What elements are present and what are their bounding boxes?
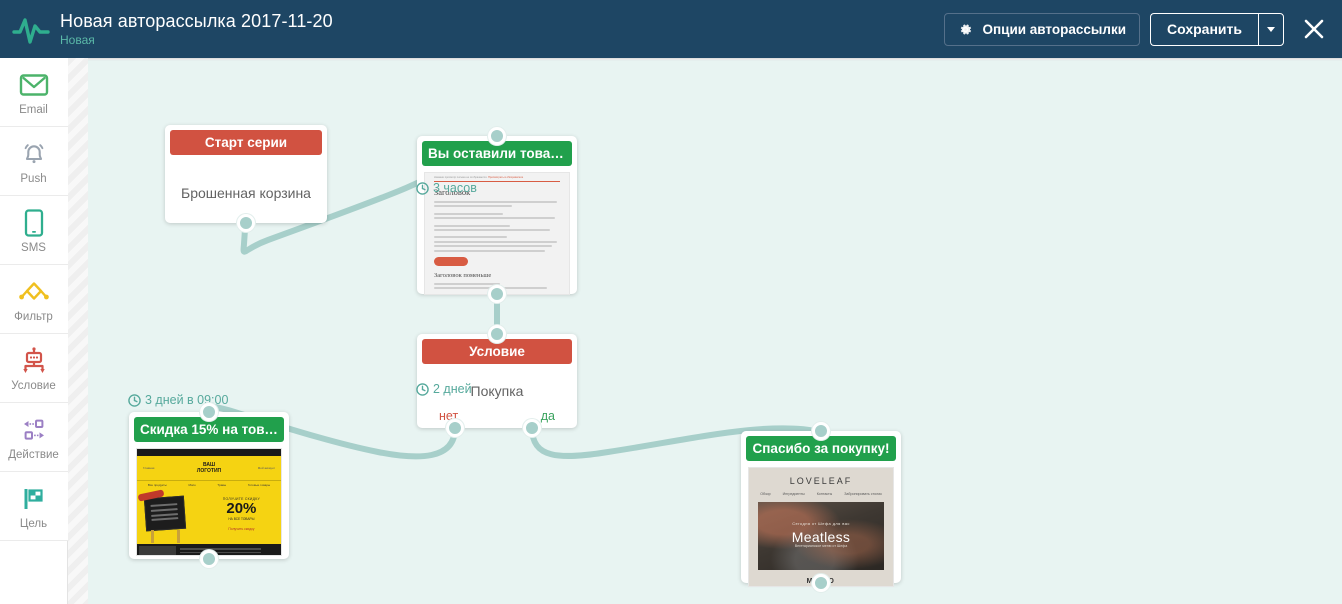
preview-hero-image: Сегодня от Шефа для вас Meatless Вегетар… bbox=[758, 502, 884, 570]
preview-nav-item: Забронировать столик bbox=[844, 492, 882, 496]
preview-nav-item: Контакты bbox=[817, 492, 833, 496]
condition-in-port[interactable] bbox=[488, 325, 506, 343]
canvas-top-shadow bbox=[88, 58, 1342, 61]
condition-node[interactable]: Условие Покупка нет да bbox=[417, 334, 577, 428]
delay-label-2-days: 2 дней bbox=[416, 382, 472, 396]
email-cart-in-port[interactable] bbox=[488, 127, 506, 145]
sidebar-item-condition[interactable]: Условие bbox=[0, 334, 68, 403]
save-button[interactable]: Сохранить bbox=[1150, 13, 1258, 46]
delay-label-text: 3 часов bbox=[433, 181, 477, 195]
email-discount-preview: Главная ВАШ ЛОГОТИП Мой аккаунт Все прод… bbox=[136, 448, 282, 556]
close-icon bbox=[1302, 17, 1326, 41]
start-node-body: Брошенная корзина bbox=[165, 155, 327, 201]
sidebar-item-label: Email bbox=[19, 104, 48, 116]
preview-hero-sub: НА ВСЕ ТОВАРЫ bbox=[202, 517, 281, 521]
preview-nav-item: Готовые товары bbox=[248, 483, 270, 487]
autocampaign-options-label: Опции авторассылки bbox=[982, 22, 1126, 37]
clock-icon bbox=[416, 182, 429, 195]
delay-label-3-hours: 3 часов bbox=[416, 181, 477, 195]
preview-hero: ПОЛУЧИТЕ СКИДКУ 20% НА ВСЕ ТОВАРЫ Получи… bbox=[137, 489, 281, 544]
condition-out-port-yes[interactable] bbox=[523, 419, 541, 437]
push-bell-icon bbox=[20, 138, 48, 170]
preview-logo-bar: Главная ВАШ ЛОГОТИП Мой аккаунт bbox=[137, 456, 281, 480]
preview-nav: Обзор Ингредиенты Контакты Забронировать… bbox=[749, 492, 893, 496]
sidebar-item-push[interactable]: Push bbox=[0, 127, 68, 196]
preview-nav-item: Ингредиенты bbox=[783, 492, 805, 496]
preview-hero-sub: Вегетарианское меню от Шефа bbox=[758, 544, 884, 548]
sidebar-item-email[interactable]: Email bbox=[0, 58, 68, 127]
sidebar-item-action[interactable]: Действие bbox=[0, 403, 68, 472]
sidebar-item-label: SMS bbox=[21, 242, 46, 254]
delay-label-text: 2 дней bbox=[433, 382, 472, 396]
pulse-logo-icon bbox=[8, 12, 54, 46]
action-exchange-icon bbox=[19, 414, 49, 446]
filter-diamond-icon bbox=[17, 276, 51, 308]
gear-icon bbox=[958, 22, 973, 37]
app-header: Новая авторассылка 2017-11-20 Новая Опци… bbox=[0, 0, 1342, 58]
preview-brand-logo: LOVELEAF bbox=[749, 468, 893, 486]
preview-chalkboard-illustration bbox=[137, 489, 202, 544]
preview-top-link: Просмотреть в обозревателе bbox=[488, 176, 523, 179]
sidebar-item-goal[interactable]: Цель bbox=[0, 472, 68, 541]
preview-nav-item: Обзор bbox=[760, 492, 770, 496]
start-node-header: Старт серии bbox=[170, 130, 322, 155]
workflow-canvas[interactable]: 3 часов 2 дней 3 дней в 09:00 Старт сери… bbox=[88, 60, 1342, 604]
email-thanks-node[interactable]: Спасибо за покупку! LOVELEAF Обзор Ингре… bbox=[741, 431, 901, 583]
preview-heading-2: Заголовок поменьше bbox=[434, 272, 560, 279]
sidebar-item-label: Действие bbox=[8, 449, 59, 461]
sidebar-item-label: Цель bbox=[20, 518, 47, 530]
sidebar-item-filter[interactable]: Фильтр bbox=[0, 265, 68, 334]
email-thanks-in-port[interactable] bbox=[812, 422, 830, 440]
preview-hero-percent: 20% bbox=[202, 501, 281, 517]
preview-hero-title: Meatless bbox=[758, 529, 884, 545]
delay-label-text: 3 дней в 09:00 bbox=[145, 393, 228, 407]
preview-nav-item: Все продукты bbox=[148, 483, 167, 487]
status-badge: Новая bbox=[60, 33, 333, 48]
start-node-out-port[interactable] bbox=[237, 214, 255, 232]
preview-logo-left: Главная bbox=[143, 466, 154, 470]
preview-nav-item: Мясо bbox=[188, 483, 195, 487]
email-cart-node[interactable]: Вы оставили товар... Никакие просмотр пи… bbox=[417, 136, 577, 294]
email-cart-out-port[interactable] bbox=[488, 285, 506, 303]
condition-branch-labels: нет да bbox=[417, 399, 577, 423]
preview-logo-line2: ЛОГОТИП bbox=[197, 468, 221, 474]
sms-phone-icon bbox=[23, 207, 45, 239]
save-dropdown-toggle[interactable] bbox=[1258, 13, 1284, 46]
chevron-down-icon bbox=[1267, 27, 1275, 32]
close-button[interactable] bbox=[1300, 15, 1328, 43]
preview-cta-button bbox=[434, 257, 468, 266]
preview-hero-kicker: Сегодня от Шефа для вас bbox=[758, 521, 884, 526]
clock-icon bbox=[416, 383, 429, 396]
preview-hero-cta: Получить скидку bbox=[202, 527, 281, 531]
email-discount-out-port[interactable] bbox=[200, 550, 218, 568]
preview-nav-item: Травы bbox=[217, 483, 226, 487]
goal-flag-icon bbox=[19, 483, 49, 515]
email-discount-node[interactable]: Скидка 15% на това... Главная ВАШ ЛОГОТИ… bbox=[129, 412, 289, 559]
condition-out-port-no[interactable] bbox=[446, 419, 464, 437]
branch-label-yes: да bbox=[541, 409, 555, 423]
preview-logo-right: Мой аккаунт bbox=[258, 466, 275, 470]
email-discount-in-port[interactable] bbox=[200, 403, 218, 421]
sidebar-item-label: Условие bbox=[11, 380, 55, 392]
page-title: Новая авторассылка 2017-11-20 bbox=[60, 11, 333, 32]
email-thanks-preview: LOVELEAF Обзор Ингредиенты Контакты Забр… bbox=[748, 467, 894, 587]
sidebar-item-sms[interactable]: SMS bbox=[0, 196, 68, 265]
canvas-gutter bbox=[68, 58, 88, 604]
header-actions: Опции авторассылки Сохранить bbox=[944, 13, 1342, 46]
condition-robot-icon bbox=[19, 345, 49, 377]
clock-icon bbox=[128, 394, 141, 407]
tool-sidebar: Email Push SMS bbox=[0, 58, 68, 604]
autocampaign-options-button[interactable]: Опции авторассылки bbox=[944, 13, 1140, 46]
preview-top-note-text: Никакие просмотр письма не отображается. bbox=[434, 176, 487, 179]
email-envelope-icon bbox=[19, 69, 49, 101]
email-thanks-out-port[interactable] bbox=[812, 574, 830, 592]
save-button-group: Сохранить bbox=[1150, 13, 1284, 46]
sidebar-item-label: Фильтр bbox=[14, 311, 53, 323]
preview-nav: Все продукты Мясо Травы Готовые товары bbox=[137, 480, 281, 489]
header-title-block: Новая авторассылка 2017-11-20 Новая bbox=[60, 11, 333, 48]
sidebar-item-label: Push bbox=[20, 173, 46, 185]
start-node[interactable]: Старт серии Брошенная корзина bbox=[165, 125, 327, 223]
